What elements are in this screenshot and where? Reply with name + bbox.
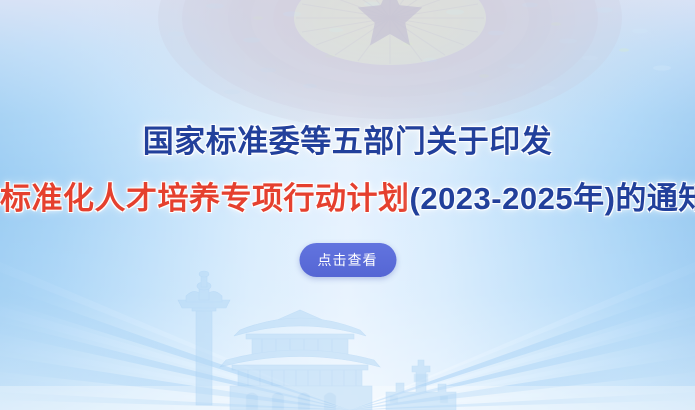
banner-title-highlight: 标准化人才培养专项行动计划 — [0, 181, 410, 216]
notice-banner: 国家标准委等五部门关于印发 标准化人才培养专项行动计划(2023-2025年)的… — [0, 0, 695, 410]
banner-title-line-2: 标准化人才培养专项行动计划(2023-2025年)的通知 — [0, 183, 695, 214]
banner-title-suffix: (2023-2025年)的通知 — [410, 181, 695, 216]
view-details-button[interactable]: 点击查看 — [299, 243, 396, 277]
banner-content: 国家标准委等五部门关于印发 标准化人才培养专项行动计划(2023-2025年)的… — [0, 0, 695, 410]
banner-title-line-1: 国家标准委等五部门关于印发 — [0, 126, 695, 157]
